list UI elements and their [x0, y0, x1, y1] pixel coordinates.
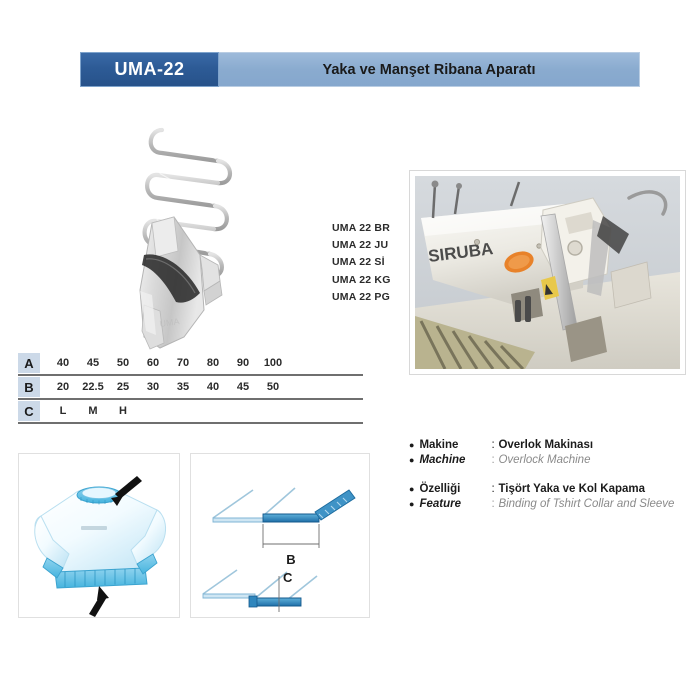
table-cell: 100 [258, 357, 288, 369]
bullet-icon: ● [409, 482, 414, 497]
table-cell: H [108, 405, 138, 417]
table-cell: 30 [138, 381, 168, 393]
row-values-c: L M H [48, 405, 138, 417]
table-bottom-rule [18, 422, 363, 424]
spec-key-en: Feature [419, 497, 491, 512]
overlock-machine-illustration: SIRUBA [415, 176, 680, 369]
product-code-badge: UMA-22 [80, 52, 219, 87]
bullet-icon: ● [409, 497, 414, 512]
row-label-c: C [18, 401, 40, 421]
table-row: B 20 22.5 25 30 35 40 45 50 [18, 374, 363, 398]
spec-value: Overlok Makinası [498, 438, 593, 453]
product-title-text: Yaka ve Manşet Ribana Aparatı [322, 62, 535, 78]
seam-diagram-panel: B C [190, 453, 370, 618]
table-cell: 40 [48, 357, 78, 369]
product-title-bar: Yaka ve Manşet Ribana Aparatı [219, 52, 640, 87]
spec-key: Özelliği [419, 482, 491, 497]
machine-photo: SIRUBA [415, 176, 680, 369]
spec-group-machine: ● Makine : Overlok Makinası ● Machine : … [409, 438, 694, 468]
table-cell: 25 [108, 381, 138, 393]
table-cell: 20 [48, 381, 78, 393]
table-row: C L M H [18, 398, 363, 422]
spec-value-en: Binding of Tshirt Collar and Sleeve [498, 497, 674, 512]
specification-list: ● Makine : Overlok Makinası ● Machine : … [409, 438, 694, 526]
table-cell: 22.5 [78, 381, 108, 393]
table-cell: M [78, 405, 108, 417]
spec-colon: : [491, 482, 498, 497]
product-code-text: UMA-22 [114, 59, 184, 80]
table-cell: 90 [228, 357, 258, 369]
table-cell: 50 [258, 381, 288, 393]
spec-line-en: ● Feature : Binding of Tshirt Collar and… [409, 497, 694, 512]
spec-colon: : [491, 438, 498, 453]
table-cell: 70 [168, 357, 198, 369]
bullet-icon: ● [409, 438, 414, 453]
table-cell: 50 [108, 357, 138, 369]
machine-photo-frame: SIRUBA [409, 170, 686, 375]
table-row: A 40 45 50 60 70 80 90 100 [18, 352, 363, 374]
table-cell: 45 [228, 381, 258, 393]
row-label-a: A [18, 353, 40, 373]
bullet-icon: ● [409, 453, 414, 468]
product-photo: UMA [100, 105, 250, 350]
table-cell: 35 [168, 381, 198, 393]
row-values-b: 20 22.5 25 30 35 40 45 50 [48, 381, 288, 393]
spec-line-en: ● Machine : Overlock Machine [409, 453, 694, 468]
spec-colon: : [491, 453, 498, 468]
dimension-label-b: B [286, 552, 295, 567]
dimension-label-c: C [283, 570, 293, 585]
garment-diagram-panel [18, 453, 180, 618]
spec-group-feature: ● Özelliği : Tişört Yaka ve Kol Kapama ●… [409, 482, 694, 512]
row-label-b: B [18, 377, 40, 397]
spec-value-en: Overlock Machine [498, 453, 590, 468]
table-cell: 80 [198, 357, 228, 369]
table-cell: 60 [138, 357, 168, 369]
sweatshirt-illustration [19, 454, 179, 617]
seam-cross-section-illustration: B C [191, 454, 369, 617]
row-values-a: 40 45 50 60 70 80 90 100 [48, 357, 288, 369]
spec-line-tr: ● Özelliği : Tişört Yaka ve Kol Kapama [409, 482, 694, 497]
header: UMA-22 Yaka ve Manşet Ribana Aparatı [80, 52, 640, 87]
spec-line-tr: ● Makine : Overlok Makinası [409, 438, 694, 453]
spec-key-en: Machine [419, 453, 491, 468]
arrow-to-hem [89, 586, 109, 617]
table-cell: 40 [198, 381, 228, 393]
spec-key: Makine [419, 438, 491, 453]
dimension-table: A 40 45 50 60 70 80 90 100 B 20 22.5 25 … [18, 352, 363, 424]
product-spec-sheet: UMA-22 Yaka ve Manşet Ribana Aparatı [0, 0, 700, 700]
spec-colon: : [491, 497, 498, 512]
table-cell: L [48, 405, 78, 417]
spec-value: Tişört Yaka ve Kol Kapama [498, 482, 645, 497]
table-cell: 45 [78, 357, 108, 369]
binder-attachment-illustration: UMA [100, 105, 250, 350]
